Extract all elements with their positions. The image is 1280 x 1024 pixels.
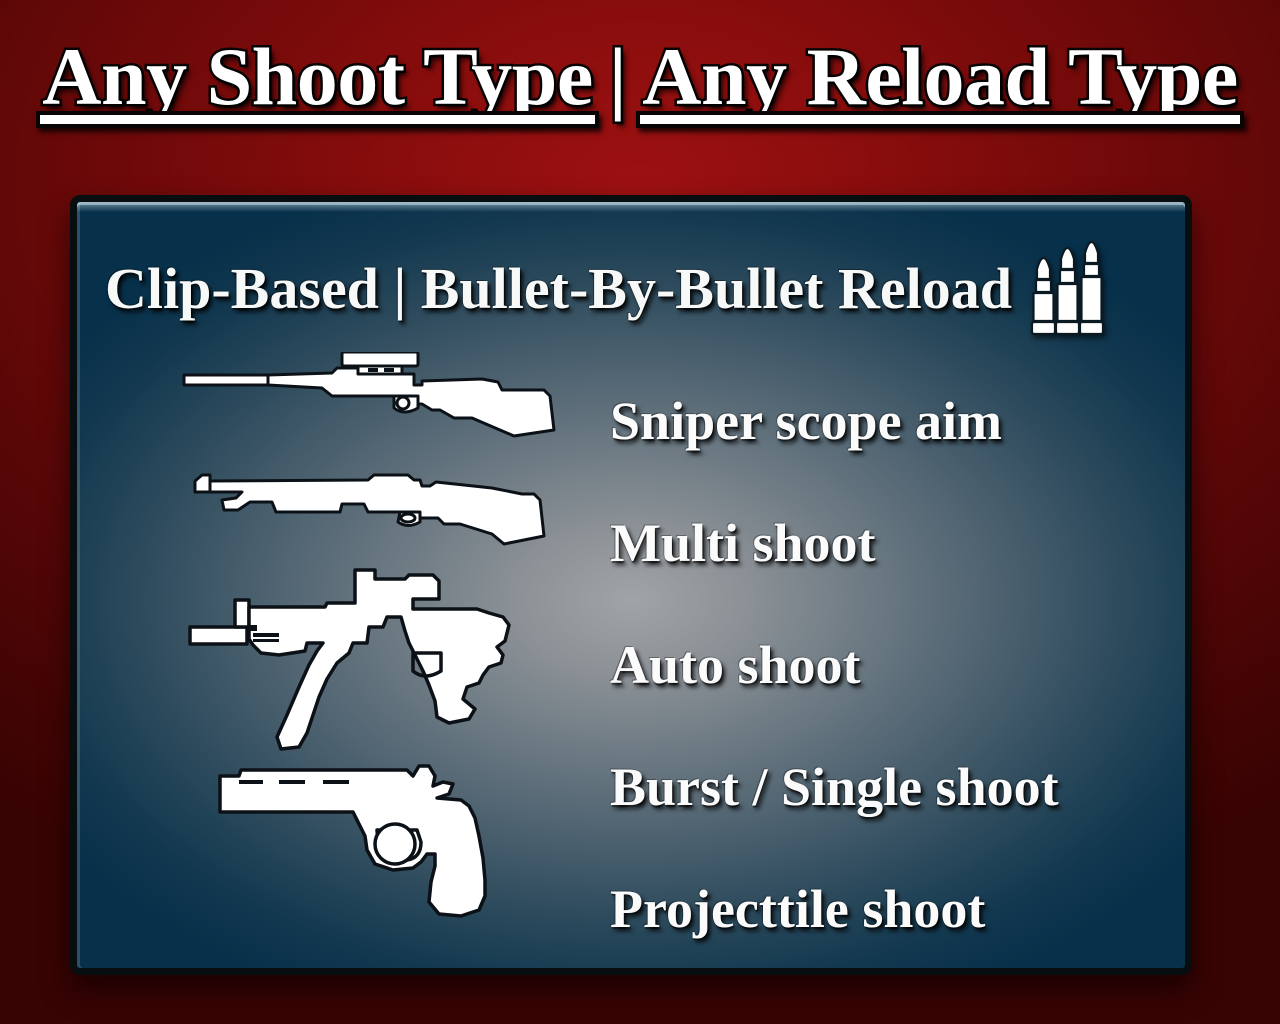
panel-top-highlight bbox=[77, 202, 1185, 212]
bullets-icon bbox=[1030, 233, 1116, 344]
feature-label-burst-single-shoot: Burst / Single shoot bbox=[610, 756, 1059, 818]
sniper-rifle-icon bbox=[182, 352, 562, 452]
feature-label-multi-shoot: Multi shoot bbox=[610, 512, 876, 574]
feature-panel: Clip-Based | Bullet-By-Bullet Reload bbox=[70, 195, 1192, 975]
feature-label-projecttile-shoot: Projecttile shoot bbox=[610, 878, 985, 940]
page-title: Any Shoot Type|Any Reload Type bbox=[0, 36, 1280, 120]
title-segment-right: Any Reload Type bbox=[642, 36, 1237, 120]
panel-heading-row: Clip-Based | Bullet-By-Bullet Reload bbox=[105, 238, 1167, 338]
feature-label-auto-shoot: Auto shoot bbox=[610, 634, 861, 696]
assault-rifle-icon bbox=[187, 567, 547, 752]
title-text: Any Shoot Type|Any Reload Type bbox=[42, 36, 1237, 120]
title-segment-left: Any Shoot Type bbox=[42, 36, 592, 120]
title-separator: | bbox=[593, 36, 643, 118]
slide-canvas: Any Shoot Type|Any Reload Type Clip-Base… bbox=[0, 0, 1280, 1024]
shotgun-icon bbox=[192, 472, 562, 562]
panel-heading-text: Clip-Based | Bullet-By-Bullet Reload bbox=[105, 255, 1012, 322]
feature-rows: Sniper scope aim Multi shoot Auto shoot … bbox=[77, 332, 1185, 972]
feature-label-sniper-scope-aim: Sniper scope aim bbox=[610, 390, 1002, 452]
revolver-icon bbox=[217, 762, 537, 922]
